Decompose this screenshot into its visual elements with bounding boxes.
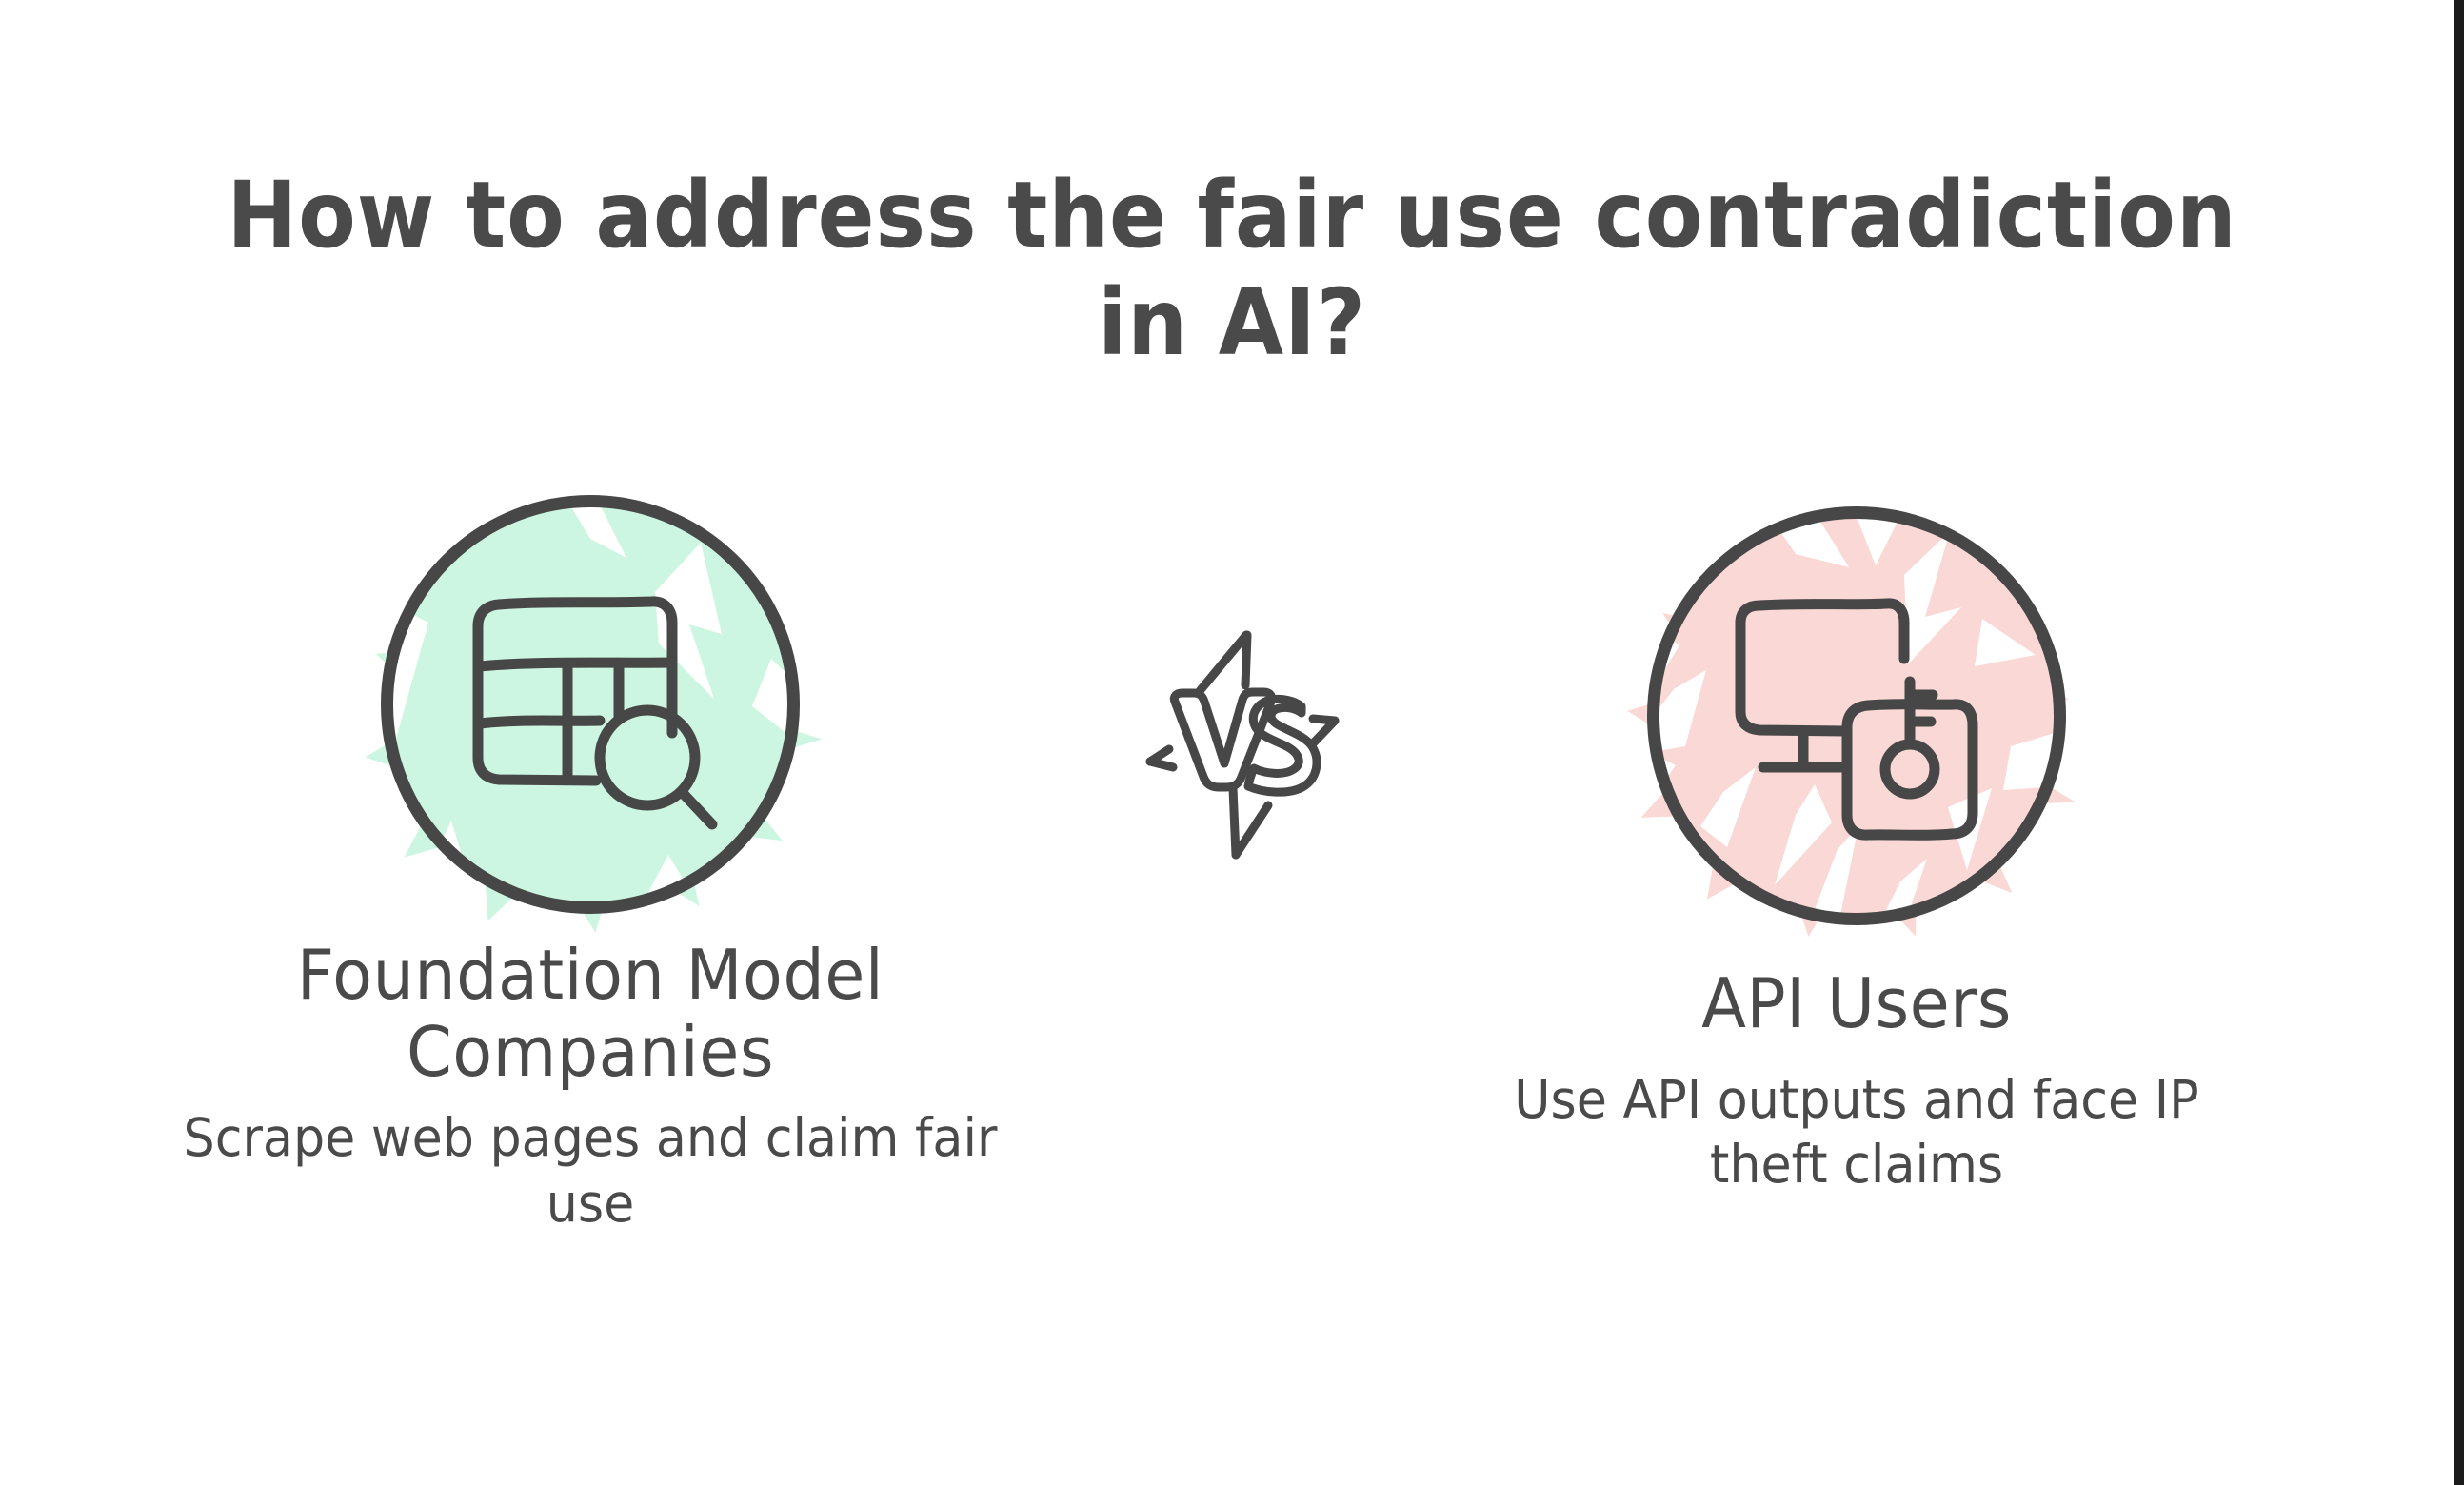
right-item-title: API Users — [1396, 965, 2318, 1042]
left-item-description: Scrape web pages and claim fair use — [129, 1105, 1052, 1237]
left-badge — [381, 495, 800, 914]
right-item-description: Use API outputs and face IP theft claims — [1396, 1067, 2318, 1198]
monitor-mobile-key-icon — [1727, 583, 1994, 849]
right-badge — [1647, 506, 2066, 925]
page-title: How to address the fair use contradictio… — [95, 162, 2369, 378]
vs-spark-icon — [1133, 619, 1352, 866]
page-title-text: How to address the fair use contradictio… — [187, 162, 2278, 378]
slide-canvas: How to address the fair use contradictio… — [0, 0, 2464, 1485]
left-item-title: Foundation Model Companies — [129, 937, 1052, 1090]
comparison-item-left: Foundation Model Companies Scrape web pa… — [105, 495, 1076, 1237]
table-search-icon — [461, 571, 727, 838]
comparison-item-right: API Users Use API outputs and face IP th… — [1371, 495, 2342, 1198]
